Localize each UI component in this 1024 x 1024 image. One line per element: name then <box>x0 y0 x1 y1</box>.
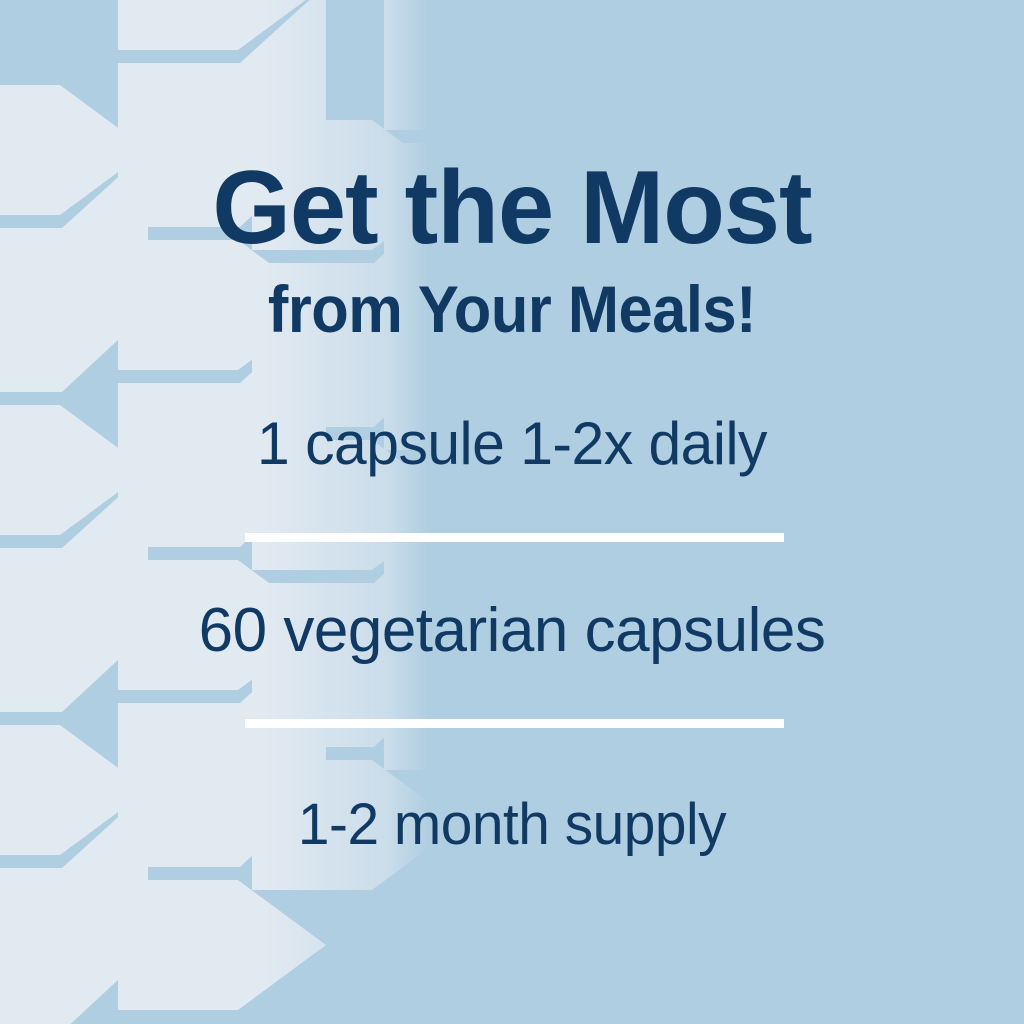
benefits-content: Get the Most from Your Meals! 1 capsule … <box>0 0 1024 1024</box>
fact-dosage: 1 capsule 1-2x daily <box>10 414 1014 474</box>
page-subtitle: from Your Meals! <box>36 276 988 342</box>
fact-supply-duration: 1-2 month supply <box>10 796 1014 854</box>
fact-capsule-count: 60 vegetarian capsules <box>0 600 1024 662</box>
divider-after-dosage <box>245 533 784 542</box>
divider-after-count <box>245 719 784 728</box>
page-title: Get the Most <box>15 156 1008 260</box>
product-benefits-panel: Get the Most from Your Meals! 1 capsule … <box>0 0 1024 1024</box>
